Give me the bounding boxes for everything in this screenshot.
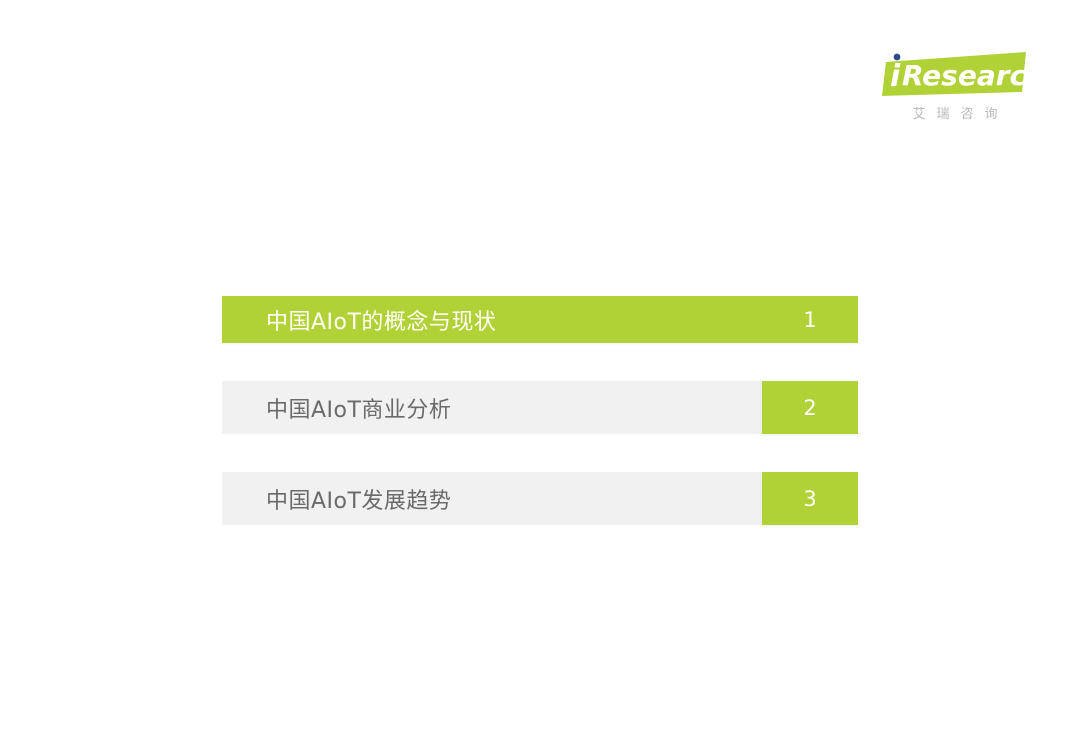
slide-canvas: i Research 艾瑞咨询 中国AIoT的概念与现状 1 中国AIoT商业分… — [0, 0, 1080, 739]
agenda-item-1-number: 1 — [762, 296, 858, 343]
svg-text:Research: Research — [902, 59, 1030, 92]
agenda-item-1[interactable]: 中国AIoT的概念与现状 1 — [222, 296, 858, 343]
agenda-item-2-number: 2 — [762, 381, 858, 434]
iresearch-logo: i Research 艾瑞咨询 — [880, 48, 1030, 133]
logo-subtitle: 艾瑞咨询 — [880, 103, 1030, 122]
agenda-item-3-label: 中国AIoT发展趋势 — [222, 472, 762, 525]
agenda-item-3-number: 3 — [762, 472, 858, 525]
agenda-list: 中国AIoT的概念与现状 1 中国AIoT商业分析 2 中国AIoT发展趋势 3 — [222, 296, 858, 525]
svg-text:i: i — [890, 59, 901, 94]
agenda-item-1-label: 中国AIoT的概念与现状 — [222, 296, 762, 343]
iresearch-logo-mark: i Research — [880, 48, 1030, 98]
agenda-item-2-label: 中国AIoT商业分析 — [222, 381, 762, 434]
agenda-item-2[interactable]: 中国AIoT商业分析 2 — [222, 381, 858, 434]
agenda-item-3[interactable]: 中国AIoT发展趋势 3 — [222, 472, 858, 525]
